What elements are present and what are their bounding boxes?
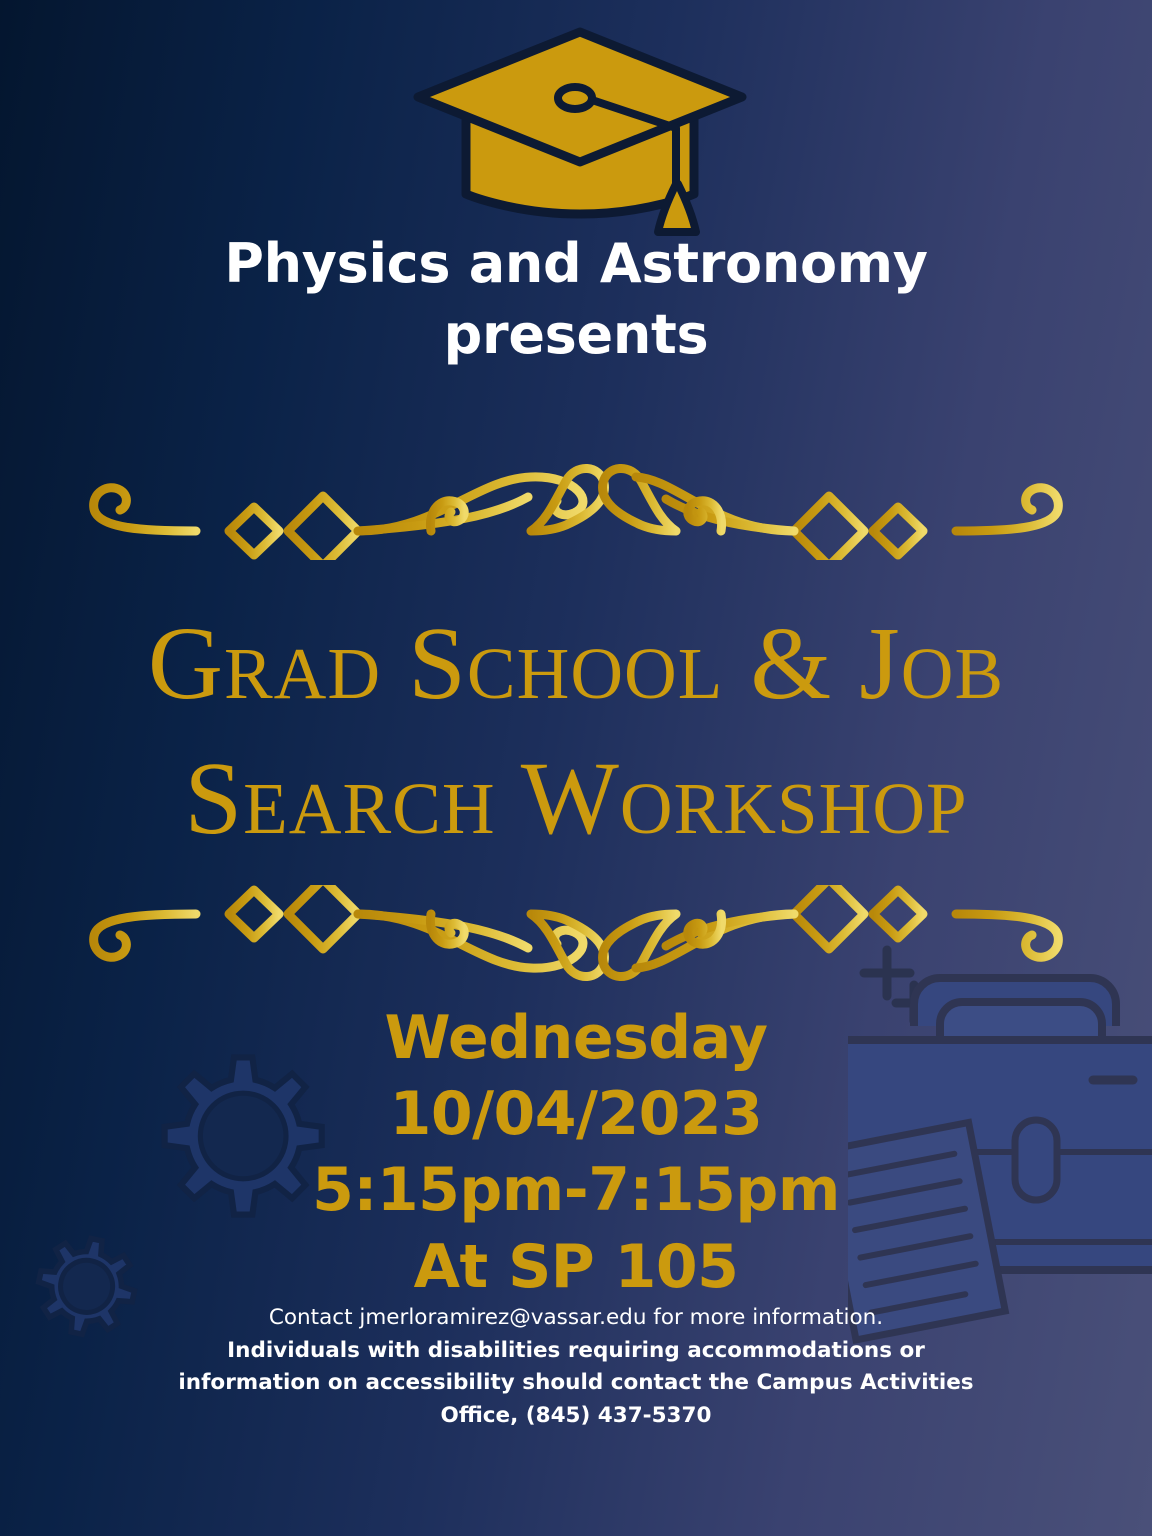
presenter-header: Physics and Astronomy presents <box>0 228 1152 371</box>
event-date: 10/04/2023 <box>0 1076 1152 1152</box>
footer-contact-line: Contact jmerloramirez@vassar.edu for mor… <box>120 1302 1032 1335</box>
event-time: 5:15pm-7:15pm <box>0 1152 1152 1228</box>
title-line-1: Grad School & Job <box>0 596 1152 731</box>
poster-canvas: Physics and Astronomy presents <box>0 0 1152 1536</box>
title-line-2: Search Workshop <box>0 731 1152 866</box>
event-location: At SP 105 <box>0 1229 1152 1305</box>
footer-accessibility-line-2: information on accessibility should cont… <box>120 1367 1032 1400</box>
footer-accessibility-line-1: Individuals with disabilities requiring … <box>120 1335 1032 1368</box>
footer-accessibility-line-3: Office, (845) 437-5370 <box>120 1400 1032 1433</box>
footer-notice: Contact jmerloramirez@vassar.edu for mor… <box>120 1302 1032 1433</box>
ornament-divider-bottom <box>76 885 1076 990</box>
event-day: Wednesday <box>0 1000 1152 1076</box>
event-details: Wednesday 10/04/2023 5:15pm-7:15pm At SP… <box>0 1000 1152 1305</box>
presenter-line-2: presents <box>0 299 1152 370</box>
presenter-line-1: Physics and Astronomy <box>0 228 1152 299</box>
page-title: Grad School & Job Search Workshop <box>0 596 1152 866</box>
graduation-cap-icon <box>408 18 752 238</box>
ornament-divider-top <box>76 455 1076 560</box>
